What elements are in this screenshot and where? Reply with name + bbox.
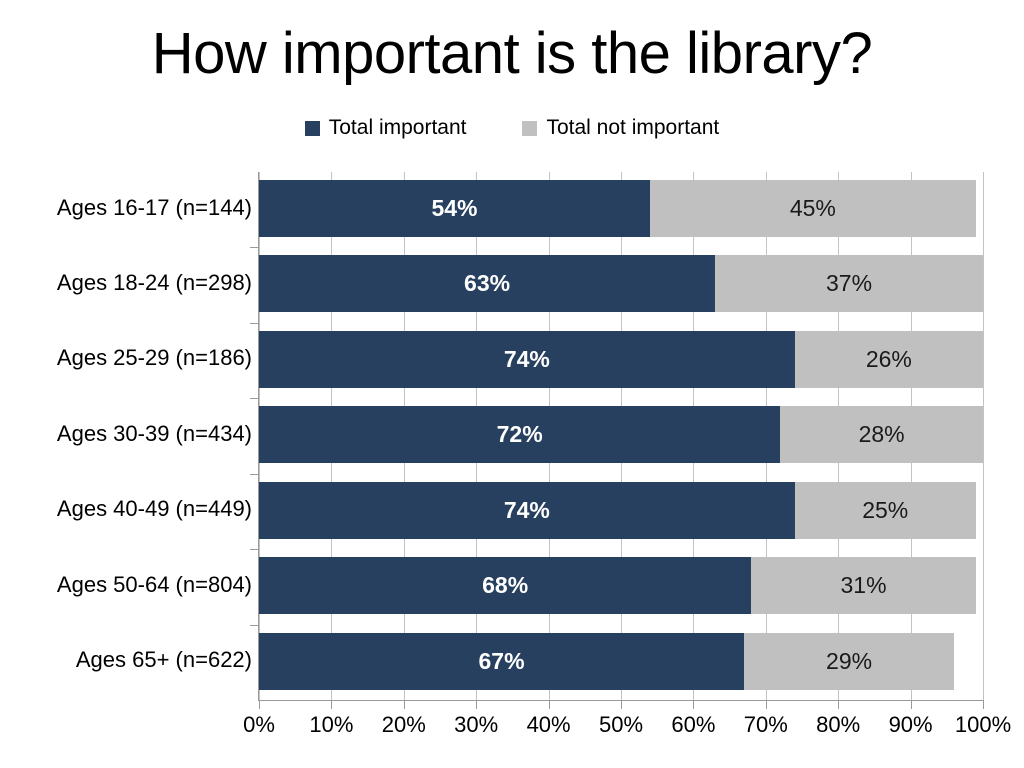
bar-value-label: 25%	[862, 497, 908, 524]
y-axis-tick	[250, 398, 259, 399]
x-axis-tick-label: 80%	[816, 712, 860, 738]
bar-segment-total-important[interactable]: 63%	[259, 255, 715, 312]
x-axis-tick-label: 50%	[599, 712, 643, 738]
y-axis-tick	[250, 549, 259, 550]
bar-value-label: 45%	[790, 195, 836, 222]
bar-segment-total-important[interactable]: 72%	[259, 406, 780, 463]
x-axis-tick	[259, 701, 260, 709]
bar-segment-total-not-important[interactable]: 28%	[780, 406, 983, 463]
plot-area: 54%45%63%37%74%26%72%28%74%25%68%31%67%2…	[259, 172, 983, 700]
bar-segment-total-not-important[interactable]: 29%	[744, 633, 954, 690]
bar-value-label: 31%	[841, 572, 887, 599]
legend-item-total-not-important: Total not important	[522, 116, 719, 140]
bar-value-label: 29%	[826, 648, 872, 675]
bar-segment-total-not-important[interactable]: 37%	[715, 255, 983, 312]
x-axis-tick	[983, 701, 984, 709]
y-axis-category-labels: Ages 16-17 (n=144)Ages 18-24 (n=298)Ages…	[0, 172, 252, 700]
bar-segment-total-not-important[interactable]: 26%	[795, 331, 983, 388]
bar-row[interactable]: 54%45%	[259, 180, 983, 237]
category-label: Ages 25-29 (n=186)	[4, 345, 252, 371]
x-axis-tick-label: 70%	[744, 712, 788, 738]
x-axis-tick	[549, 701, 550, 709]
x-axis-tick-labels: 0%10%20%30%40%50%60%70%80%90%100%	[0, 712, 1024, 752]
bar-value-label: 54%	[431, 195, 477, 222]
bar-row[interactable]: 74%26%	[259, 331, 983, 388]
x-axis-tick	[331, 701, 332, 709]
bar-segment-total-not-important[interactable]: 31%	[751, 557, 975, 614]
legend-label-total-not-important: Total not important	[546, 116, 719, 140]
bar-value-label: 74%	[504, 497, 550, 524]
bar-row[interactable]: 68%31%	[259, 557, 983, 614]
bar-row[interactable]: 63%37%	[259, 255, 983, 312]
page-title: How important is the library?	[0, 24, 1024, 85]
bar-segment-total-important[interactable]: 67%	[259, 633, 744, 690]
x-axis-tick-label: 40%	[527, 712, 571, 738]
chart-legend: Total important Total not important	[0, 116, 1024, 140]
bar-value-label: 72%	[497, 421, 543, 448]
bar-segment-total-important[interactable]: 54%	[259, 180, 650, 237]
category-label: Ages 16-17 (n=144)	[4, 195, 252, 221]
y-axis-tick	[250, 474, 259, 475]
x-axis-tick-label: 0%	[243, 712, 275, 738]
x-axis-tick	[404, 701, 405, 709]
bar-value-label: 68%	[482, 572, 528, 599]
bar-segment-total-important[interactable]: 74%	[259, 331, 795, 388]
legend-item-total-important: Total important	[305, 116, 467, 140]
slide-canvas: How important is the library? Total impo…	[0, 0, 1024, 768]
x-axis-tick	[693, 701, 694, 709]
y-axis-tick	[250, 625, 259, 626]
x-axis-tick	[621, 701, 622, 709]
legend-label-total-important: Total important	[329, 116, 467, 140]
gridline	[983, 172, 984, 700]
x-axis-tick	[476, 701, 477, 709]
x-axis-tick-label: 100%	[955, 712, 1011, 738]
bar-segment-total-important[interactable]: 68%	[259, 557, 751, 614]
bar-row[interactable]: 74%25%	[259, 482, 983, 539]
x-axis-tick-label: 30%	[454, 712, 498, 738]
bar-segment-total-not-important[interactable]: 25%	[795, 482, 976, 539]
bar-value-label: 28%	[859, 421, 905, 448]
x-axis-tick-label: 90%	[889, 712, 933, 738]
legend-swatch-total-not-important	[522, 121, 537, 136]
bar-segment-total-important[interactable]: 74%	[259, 482, 795, 539]
bar-value-label: 26%	[866, 346, 912, 373]
category-label: Ages 50-64 (n=804)	[4, 572, 252, 598]
legend-swatch-total-important	[305, 121, 320, 136]
bar-value-label: 74%	[504, 346, 550, 373]
bar-segment-total-not-important[interactable]: 45%	[650, 180, 976, 237]
bar-value-label: 67%	[479, 648, 525, 675]
bar-row[interactable]: 72%28%	[259, 406, 983, 463]
bar-value-label: 63%	[464, 270, 510, 297]
category-label: Ages 65+ (n=622)	[4, 647, 252, 673]
x-axis-tick-label: 60%	[671, 712, 715, 738]
x-axis-tick-label: 10%	[309, 712, 353, 738]
x-axis-tick	[766, 701, 767, 709]
y-axis-tick	[250, 247, 259, 248]
x-axis-tick-label: 20%	[382, 712, 426, 738]
x-axis-tick	[911, 701, 912, 709]
bar-value-label: 37%	[826, 270, 872, 297]
bar-row[interactable]: 67%29%	[259, 633, 983, 690]
x-axis-tick	[838, 701, 839, 709]
category-label: Ages 40-49 (n=449)	[4, 496, 252, 522]
y-axis-tick	[250, 323, 259, 324]
category-label: Ages 30-39 (n=434)	[4, 421, 252, 447]
category-label: Ages 18-24 (n=298)	[4, 270, 252, 296]
